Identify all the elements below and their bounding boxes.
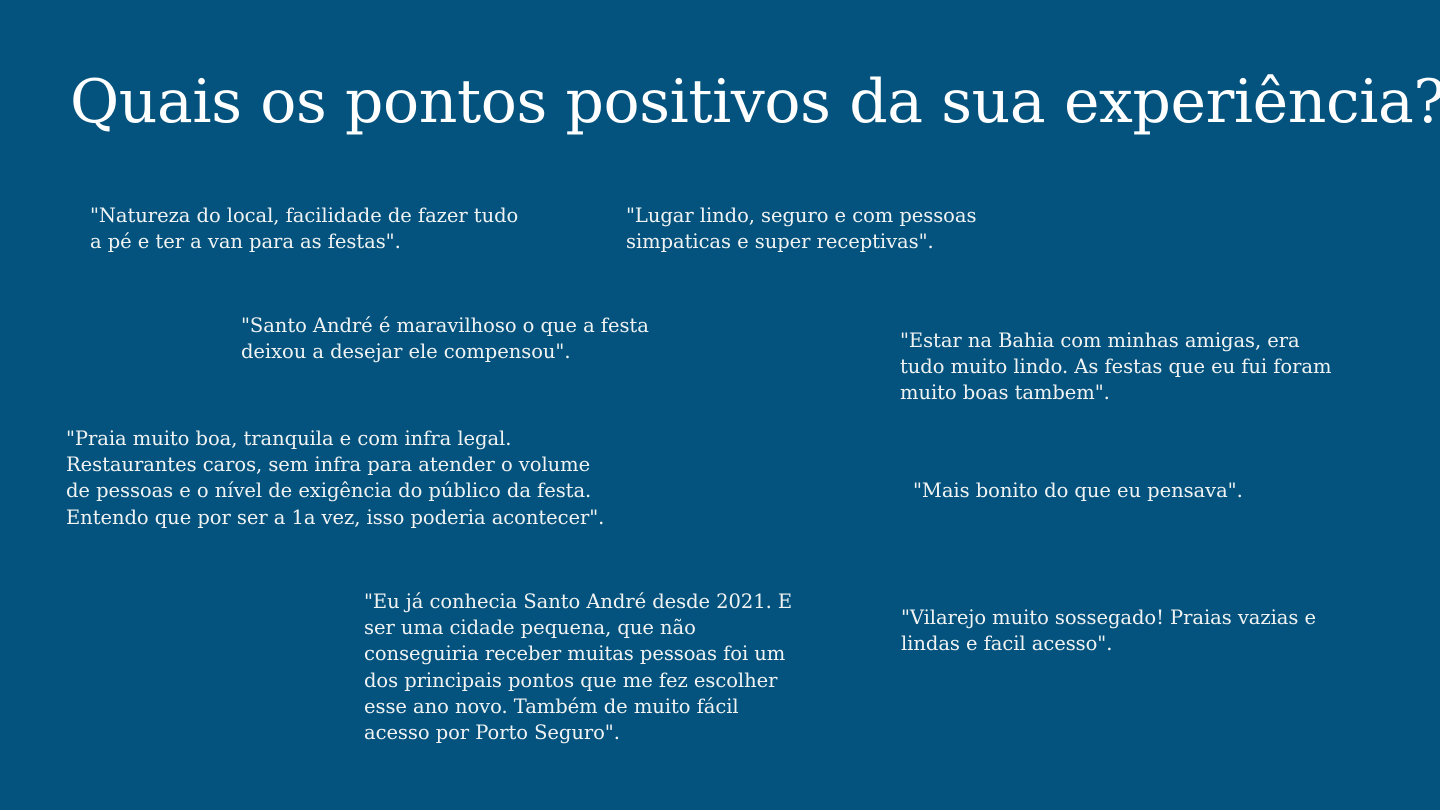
quote-lugar: "Lugar lindo, seguro e com pessoas simpa… [626,203,1046,255]
page-title: Quais os pontos positivos da sua experiê… [70,66,1400,138]
quote-praia: "Praia muito boa, tranquila e com infra … [66,426,666,531]
quote-vilarejo: "Vilarejo muito sossegado! Praias vazias… [901,605,1371,657]
quote-eu-ja-conhecia: "Eu já conhecia Santo André desde 2021. … [364,589,824,746]
quote-mais-bonito: "Mais bonito do que eu pensava". [913,478,1333,504]
quote-bahia: "Estar na Bahia com minhas amigas, era t… [900,328,1380,407]
quote-natureza: "Natureza do local, facilidade de fazer … [90,203,610,255]
slide-canvas: Quais os pontos positivos da sua experiê… [0,0,1440,810]
quote-santo-andre: "Santo André é maravilhoso o que a festa… [241,313,711,365]
